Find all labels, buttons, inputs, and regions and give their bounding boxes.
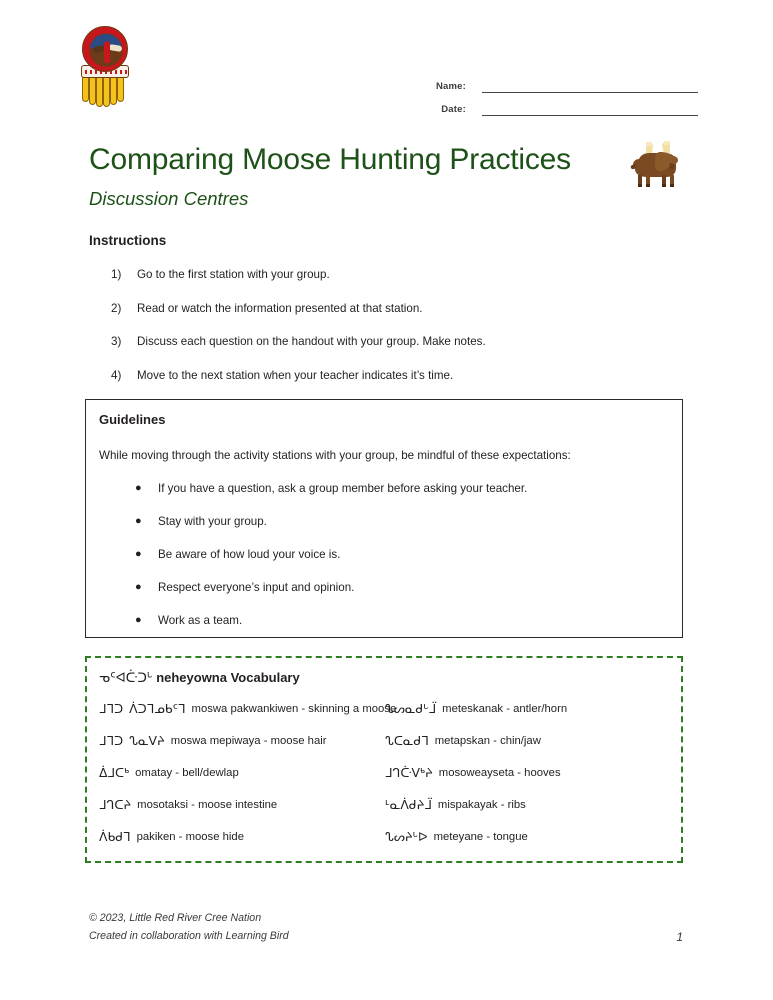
- guidelines-list: ● If you have a question, ask a group me…: [135, 482, 675, 647]
- name-input-line[interactable]: [482, 79, 698, 93]
- bullet-icon: ●: [135, 614, 158, 628]
- entry-syllabics: ᔐᔕᓇᑯᒡᒩ: [385, 702, 436, 715]
- instructions-list: 1) Go to the first station with your gro…: [111, 268, 671, 402]
- entry-roman: pakiken - moose hide: [137, 830, 244, 844]
- vocabulary-entry: ᐲᑲᑯᒣ pakiken - moose hide: [99, 830, 385, 862]
- instruction-text: Go to the first station with your group.: [137, 268, 330, 282]
- vocabulary-entry: ᔐᔕᓇᑯᒡᒩ meteskanak - antler/horn: [385, 702, 671, 734]
- guideline-text: Be aware of how loud your voice is.: [158, 548, 340, 561]
- vocabulary-box: ᓀᑦᐊᑤᑐᒡ neheyowna Vocabulary ᒧᒣᑐ ᐲᑐᒣᓄᑲᑦᒣ …: [85, 656, 683, 863]
- bullet-icon: ●: [135, 548, 158, 562]
- entry-syllabics-2: ᐲᑐᒣᓄᑲᑦᒣ: [129, 702, 185, 715]
- entry-roman: omatay - bell/dewlap: [135, 766, 239, 780]
- entry-roman: mispakayak - ribs: [438, 798, 526, 812]
- date-field-row: Date:: [408, 93, 698, 116]
- instruction-text: Move to the next station when your teach…: [137, 369, 453, 383]
- instruction-text: Read or watch the information presented …: [137, 302, 423, 316]
- instruction-item: 4) Move to the next station when your te…: [111, 369, 671, 403]
- instruction-number: 1): [111, 268, 137, 282]
- page-number: 1: [676, 930, 683, 944]
- entry-syllabics: ᒻᓇᐲᑯᔨᒩ: [385, 798, 432, 811]
- little-red-river-cree-nation-crest-icon: [76, 26, 134, 108]
- guideline-item: ● Stay with your group.: [135, 515, 675, 548]
- vocabulary-columns: ᒧᒣᑐ ᐲᑐᒣᓄᑲᑦᒣ moswa pakwankiwen - skinning…: [99, 702, 671, 862]
- copyright-text: © 2023, Little Red River Cree Nation: [89, 912, 683, 930]
- guideline-item: ● Respect everyone’s input and opinion.: [135, 581, 675, 614]
- entry-syllabics: ᐲᑲᑯᒣ: [99, 830, 131, 843]
- name-label: Name:: [408, 81, 466, 93]
- vocabulary-entry: ᒧᒉᑕᔨ mosotaksi - moose intestine: [99, 798, 385, 830]
- instruction-item: 3) Discuss each question on the handout …: [111, 335, 671, 369]
- entry-roman: metapskan - chin/jaw: [435, 734, 541, 748]
- vocabulary-left-column: ᒧᒣᑐ ᐲᑐᒣᓄᑲᑦᒣ moswa pakwankiwen - skinning…: [99, 702, 385, 862]
- vocabulary-entry: ᒧᒣᑐ ᔐᓇᐯᔨ moswa mepiwaya - moose hair: [99, 734, 385, 766]
- page-title: Comparing Moose Hunting Practices: [89, 143, 571, 177]
- instruction-number: 4): [111, 369, 137, 383]
- date-input-line[interactable]: [482, 102, 698, 116]
- vocabulary-entry: ᐄᒧᑕᒃ omatay - bell/dewlap: [99, 766, 385, 798]
- page-header: Name: Date:: [0, 26, 773, 126]
- instruction-number: 2): [111, 302, 137, 316]
- bullet-icon: ●: [135, 515, 158, 529]
- bullet-icon: ●: [135, 482, 158, 496]
- entry-syllabics: ᒧᒉᑕᔨ: [99, 798, 131, 811]
- crest-inner-emblem: [89, 33, 123, 67]
- entry-syllabics: ᒧᒉᑤᐯᒃᔨ: [385, 766, 433, 779]
- crest-ring: [82, 26, 128, 72]
- entry-syllabics: ᔐᑕᓇᑯᒣ: [385, 734, 429, 747]
- vocabulary-heading: ᓀᑦᐊᑤᑐᒡ neheyowna Vocabulary: [99, 670, 300, 686]
- entry-syllabics: ᒧᒣᑐ: [99, 734, 123, 747]
- guideline-text: If you have a question, ask a group memb…: [158, 482, 527, 495]
- vocabulary-entry: ᒧᒣᑐ ᐲᑐᒣᓄᑲᑦᒣ moswa pakwankiwen - skinning…: [99, 702, 385, 734]
- entry-roman: mosoweayseta - hooves: [439, 766, 561, 780]
- instruction-item: 2) Read or watch the information present…: [111, 302, 671, 336]
- guidelines-box: Guidelines While moving through the acti…: [85, 399, 683, 638]
- vocabulary-entry: ᔐᔕᔨᒡᐅ meteyane - tongue: [385, 830, 671, 862]
- instructions-heading: Instructions: [89, 233, 166, 248]
- entry-syllabics-2: ᔐᓇᐯᔨ: [129, 734, 165, 747]
- instruction-number: 3): [111, 335, 137, 349]
- vocabulary-entry: ᔐᑕᓇᑯᒣ metapskan - chin/jaw: [385, 734, 671, 766]
- guideline-text: Work as a team.: [158, 614, 242, 627]
- guidelines-intro: While moving through the activity statio…: [99, 449, 674, 462]
- date-label: Date:: [408, 104, 466, 116]
- page-subtitle: Discussion Centres: [89, 188, 248, 210]
- guideline-item: ● Be aware of how loud your voice is.: [135, 548, 675, 581]
- instruction-item: 1) Go to the first station with your gro…: [111, 268, 671, 302]
- bullet-icon: ●: [135, 581, 158, 595]
- guideline-text: Respect everyone’s input and opinion.: [158, 581, 354, 594]
- entry-roman: meteyane - tongue: [434, 830, 528, 844]
- entry-syllabics: ᔐᔕᔨᒡᐅ: [385, 830, 428, 843]
- name-date-fields: Name: Date:: [408, 70, 698, 116]
- vocabulary-heading-text: neheyowna Vocabulary: [156, 670, 300, 685]
- name-field-row: Name:: [408, 70, 698, 93]
- entry-syllabics: ᒧᒣᑐ: [99, 702, 123, 715]
- vocabulary-entry: ᒻᓇᐲᑯᔨᒩ mispakayak - ribs: [385, 798, 671, 830]
- crest-feather-fringe: [81, 76, 129, 108]
- vocabulary-right-column: ᔐᔕᓇᑯᒡᒩ meteskanak - antler/horn ᔐᑕᓇᑯᒣ me…: [385, 702, 671, 862]
- guideline-text: Stay with your group.: [158, 515, 267, 528]
- guideline-item: ● If you have a question, ask a group me…: [135, 482, 675, 515]
- guideline-item: ● Work as a team.: [135, 614, 675, 647]
- entry-roman: meteskanak - antler/horn: [442, 702, 567, 716]
- vocabulary-entry: ᒧᒉᑤᐯᒃᔨ mosoweayseta - hooves: [385, 766, 671, 798]
- guidelines-heading: Guidelines: [99, 412, 165, 427]
- moose-icon: [626, 139, 684, 187]
- instruction-text: Discuss each question on the handout wit…: [137, 335, 486, 349]
- page-footer: © 2023, Little Red River Cree Nation Cre…: [89, 912, 683, 948]
- entry-syllabics: ᐄᒧᑕᒃ: [99, 766, 129, 779]
- entry-roman: moswa mepiwaya - moose hair: [171, 734, 327, 748]
- worksheet-page: Name: Date: Comparing Moose Hunting Prac…: [0, 0, 773, 1000]
- vocabulary-heading-syllabics: ᓀᑦᐊᑤᑐᒡ: [99, 671, 153, 686]
- entry-roman: moswa pakwankiwen - skinning a moose: [192, 702, 397, 716]
- credit-text: Created in collaboration with Learning B…: [89, 930, 683, 948]
- entry-roman: mosotaksi - moose intestine: [137, 798, 277, 812]
